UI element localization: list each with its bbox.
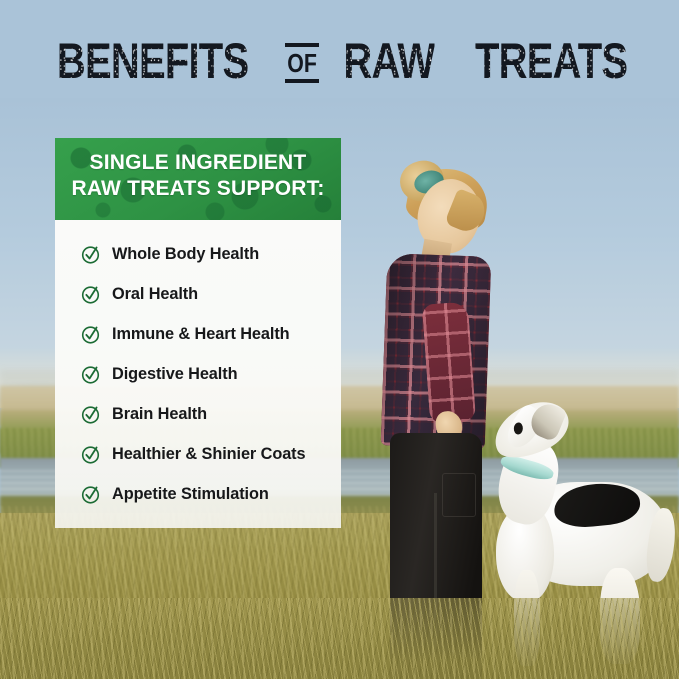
woman-sleeve: [422, 302, 476, 425]
list-item: Healthier & Shinier Coats: [81, 434, 341, 474]
of-bar-top: [285, 43, 319, 47]
card-header-line-1: SINGLE INGREDIENT: [69, 150, 327, 176]
title-connector-of: OF: [287, 50, 317, 76]
check-circle-icon: [81, 485, 100, 504]
list-item-label: Appetite Stimulation: [112, 484, 269, 504]
list-item-label: Healthier & Shinier Coats: [112, 444, 306, 464]
poster: BENEFITS OF RAW TREATS SINGLE INGREDIENT…: [0, 0, 679, 679]
list-item: Brain Health: [81, 394, 341, 434]
check-circle-icon: [81, 245, 100, 264]
list-item-label: Digestive Health: [112, 364, 237, 384]
list-item-label: Whole Body Health: [112, 244, 259, 264]
list-item-label: Brain Health: [112, 404, 207, 424]
benefits-card: SINGLE INGREDIENT RAW TREATS SUPPORT: Wh…: [55, 138, 341, 528]
list-item: Appetite Stimulation: [81, 474, 341, 514]
card-header-text: SINGLE INGREDIENT RAW TREATS SUPPORT:: [55, 150, 341, 202]
dog-nose: [513, 422, 523, 435]
list-item: Immune & Heart Health: [81, 314, 341, 354]
of-bar-bottom: [285, 79, 319, 83]
card-header-green-banner: SINGLE INGREDIENT RAW TREATS SUPPORT:: [55, 138, 341, 220]
title-word-raw: RAW: [344, 36, 435, 86]
title-word-benefits: BENEFITS: [57, 36, 248, 86]
check-circle-icon: [81, 365, 100, 384]
list-item: Digestive Health: [81, 354, 341, 394]
list-item: Whole Body Health: [81, 234, 341, 274]
benefits-list: Whole Body Health Oral Health Immune & H…: [55, 220, 341, 528]
page-title: BENEFITS OF RAW TREATS: [0, 36, 679, 86]
title-of-group: OF: [282, 43, 322, 83]
card-header-line-2: RAW TREATS SUPPORT:: [69, 176, 327, 202]
list-item: Oral Health: [81, 274, 341, 314]
check-circle-icon: [81, 445, 100, 464]
check-circle-icon: [81, 285, 100, 304]
list-item-label: Oral Health: [112, 284, 198, 304]
check-circle-icon: [81, 405, 100, 424]
title-word-treats: TREATS: [475, 36, 627, 86]
check-circle-icon: [81, 325, 100, 344]
list-item-label: Immune & Heart Health: [112, 324, 290, 344]
foreground-grass: [0, 598, 679, 679]
